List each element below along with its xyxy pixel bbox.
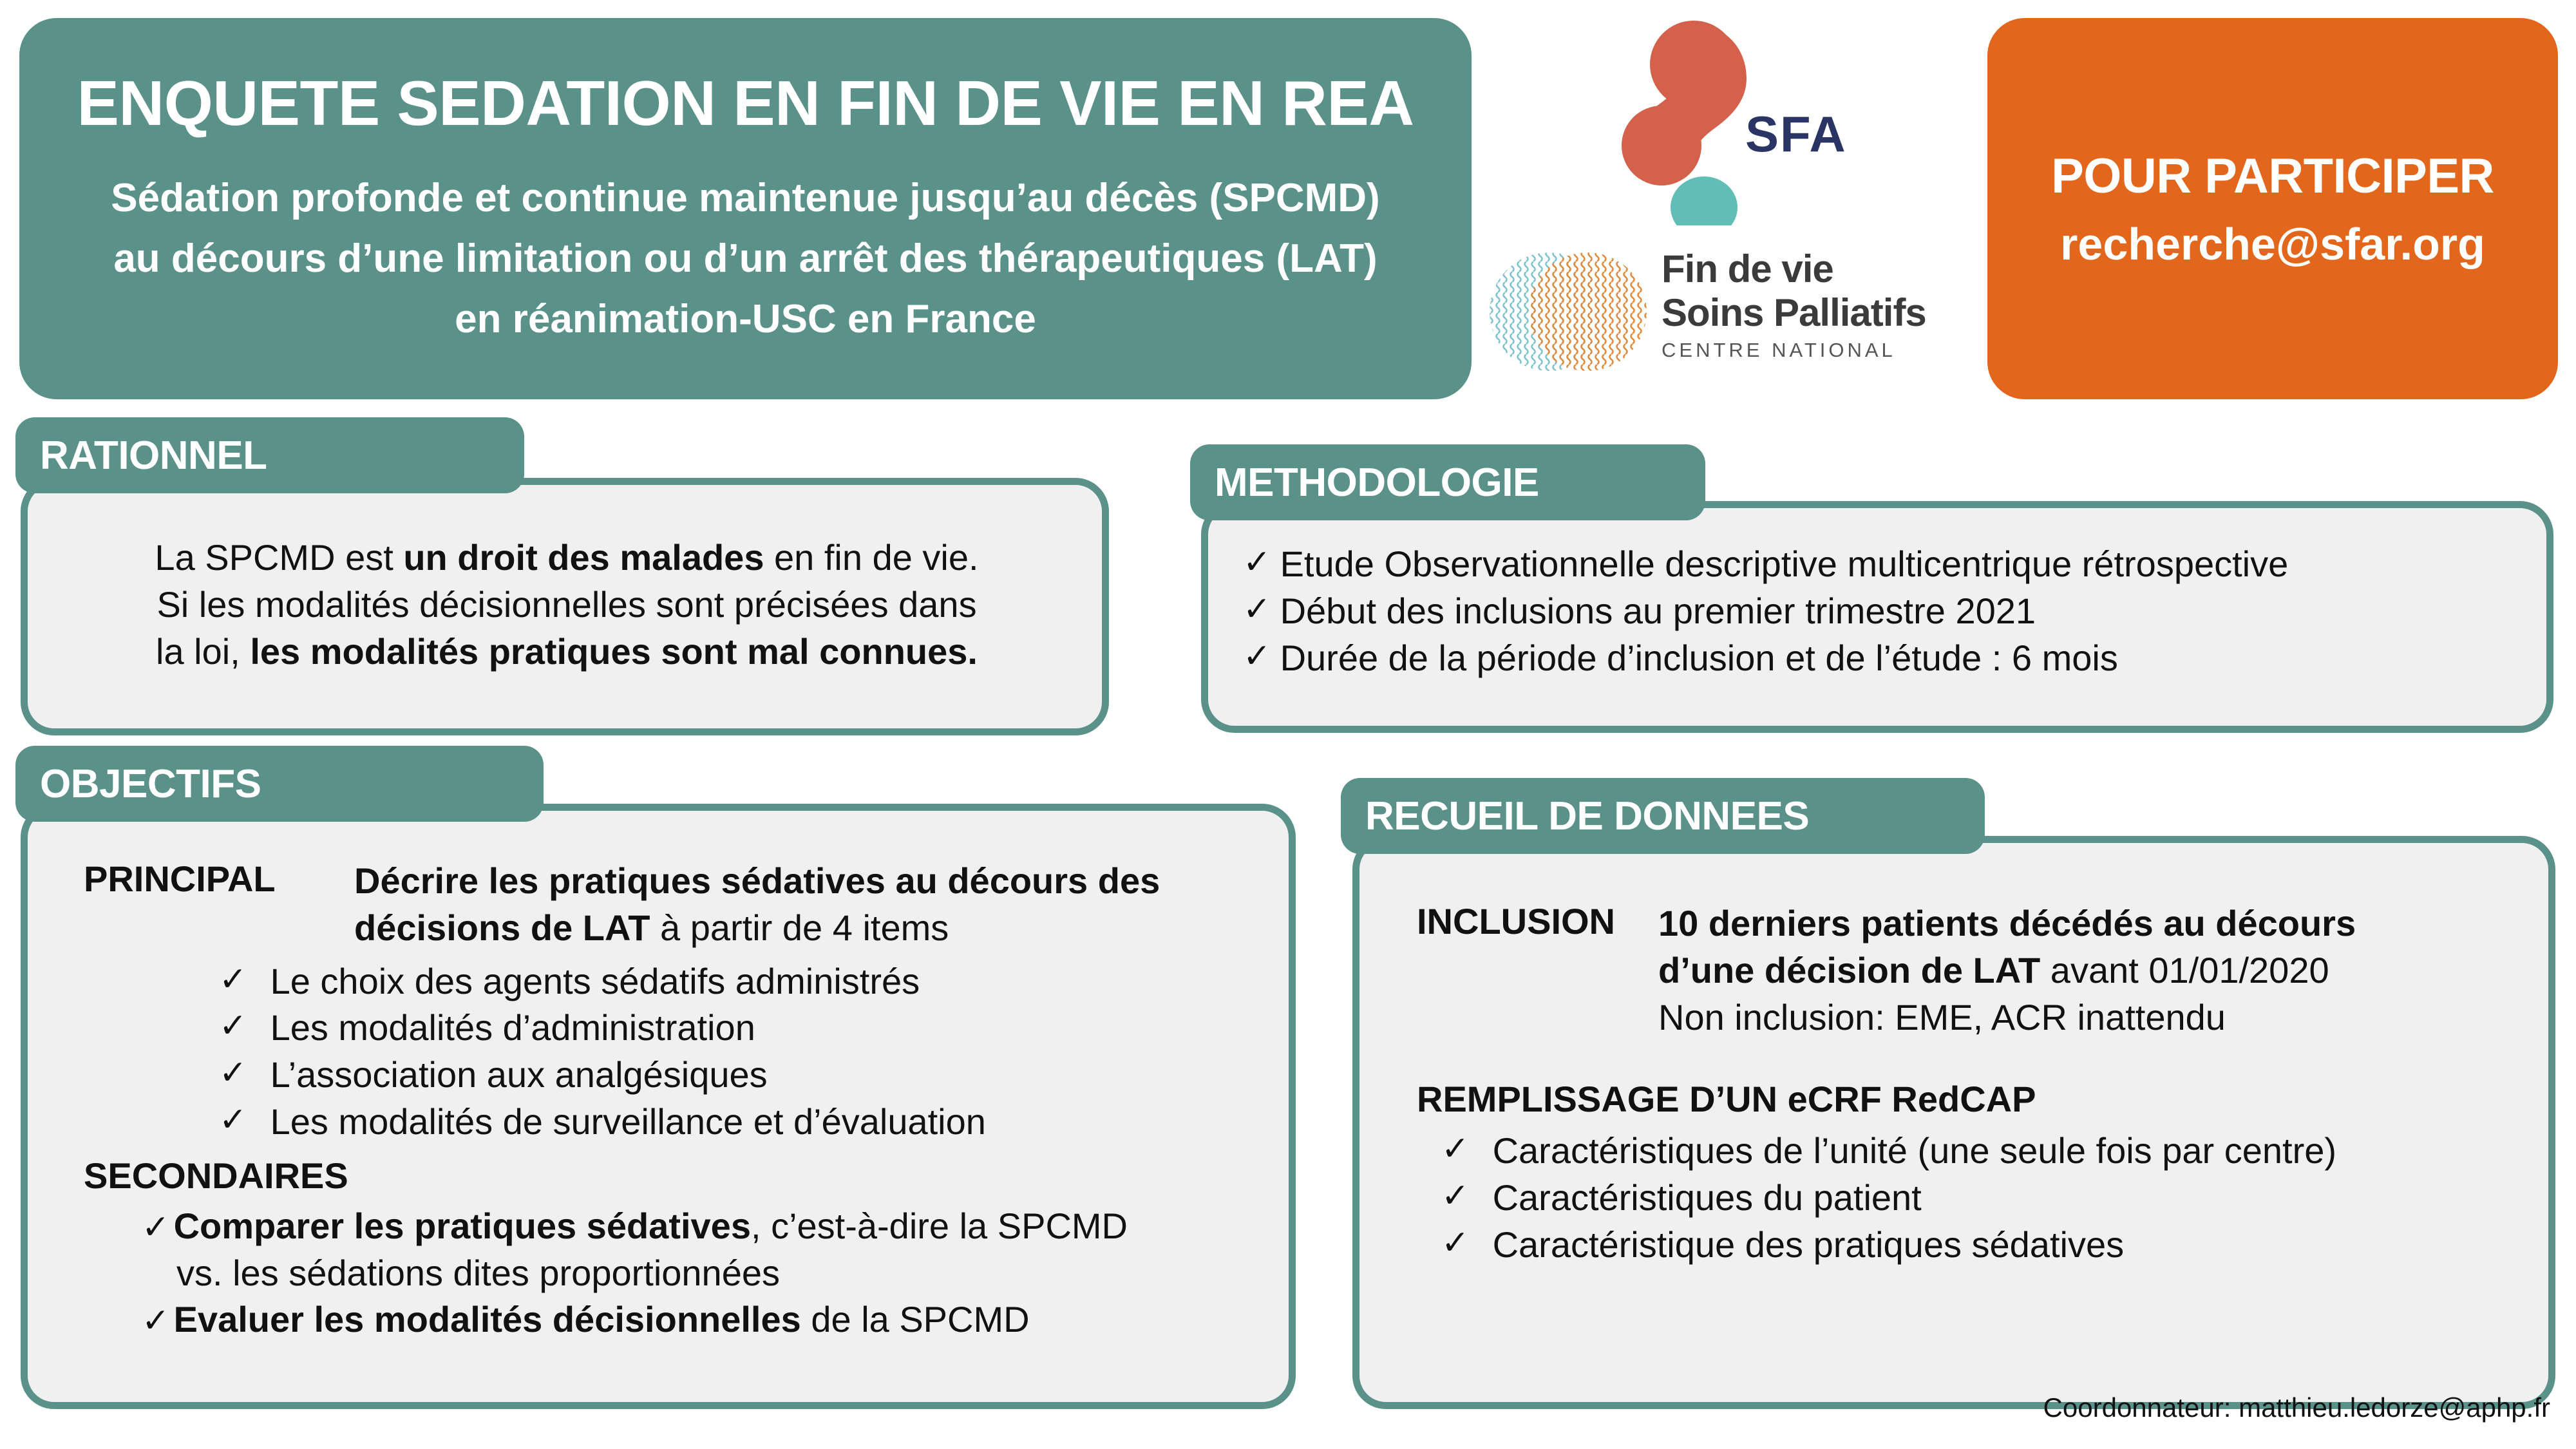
coordinator-contact: Coordonnateur: matthieu.ledorze@aphp.fr xyxy=(2043,1392,2550,1423)
objectifs-principal-list: ✓ Le choix des agents sédatifs administr… xyxy=(219,958,1288,1146)
objectifs-secondaires-label: SECONDAIRES xyxy=(84,1155,1288,1197)
objectifs-secondaire-2-bold: Evaluer les modalités décisionnelles xyxy=(174,1299,801,1340)
list-item: ✓ Caractéristiques du patient xyxy=(1441,1175,2550,1222)
check-icon: ✓ xyxy=(1441,1222,1470,1265)
objectifs-secondaires-list: ✓Comparer les pratiques sédatives, c’est… xyxy=(142,1203,1288,1343)
list-item: ✓Comparer les pratiques sédatives, c’est… xyxy=(142,1203,1288,1297)
methodologie-item-text: Début des inclusions au premier trimestr… xyxy=(1280,588,2036,635)
list-item: ✓ Caractéristique des pratiques sédative… xyxy=(1441,1222,2550,1269)
recueil-inclusion-label: INCLUSION xyxy=(1417,900,1658,942)
header-banner: ENQUETE SEDATION EN FIN DE VIE EN REA Sé… xyxy=(19,18,1472,399)
card-tab-recueil-de-donnees: RECUEIL DE DONNEES xyxy=(1341,778,1985,854)
list-item: ✓ Caractéristiques de l’unité (une seule… xyxy=(1441,1128,2550,1175)
check-icon: ✓ xyxy=(1441,1128,1470,1171)
fin-de-vie-wordmark: Fin de vie Soins Palliatifs CENTRE NATIO… xyxy=(1662,250,1926,360)
recueil-inclusion-bold-2: d’une décision de LAT xyxy=(1658,950,2040,990)
methodologie-item-text: Etude Observationnelle descriptive multi… xyxy=(1280,541,2289,588)
header-subtitle-line-2: au décours d’une limitation ou d’un arrê… xyxy=(113,239,1377,279)
list-item: ✓ Les modalités d’administration xyxy=(219,1005,1288,1052)
sfar-logo: SFAR xyxy=(1578,19,1848,225)
list-item: ✓ Les modalités de surveillance et d’éva… xyxy=(219,1099,1288,1146)
objectifs-principal-label: PRINCIPAL xyxy=(84,858,354,900)
check-icon: ✓ xyxy=(219,1052,247,1095)
objectifs-principal-bold-1: Décrire les pratiques sédatives au décou… xyxy=(354,860,1160,901)
objectifs-principal-bold-2: décisions de LAT xyxy=(354,907,650,948)
cta-title: POUR PARTICIPER xyxy=(2051,148,2494,204)
recueil-inclusion-row: INCLUSION 10 derniers patients décédés a… xyxy=(1417,900,2550,1041)
list-item: ✓Evaluer les modalités décisionnelles de… xyxy=(142,1296,1288,1343)
list-item: ✓ Etude Observationnelle descriptive mul… xyxy=(1243,541,2544,588)
check-icon: ✓ xyxy=(1243,635,1271,679)
fin-de-vie-line-1: Fin de vie xyxy=(1662,250,1926,289)
check-icon: ✓ xyxy=(219,1099,247,1142)
check-icon: ✓ xyxy=(1441,1175,1470,1218)
check-icon: ✓ xyxy=(142,1209,170,1246)
header-subtitle-line-1: Sédation profonde et continue maintenue … xyxy=(111,178,1379,218)
objectifs-secondaire-1-continuation: vs. les sédations dites proportionnées xyxy=(176,1250,1288,1297)
recueil-ecrf-list: ✓ Caractéristiques de l’unité (une seule… xyxy=(1441,1128,2550,1268)
fin-de-vie-logo: Fin de vie Soins Palliatifs CENTRE NATIO… xyxy=(1488,232,1958,393)
recueil-inclusion-text: 10 derniers patients décédés au décours … xyxy=(1658,900,2356,1041)
objectifs-item-text: L’association aux analgésiques xyxy=(270,1052,768,1099)
list-item: ✓ L’association aux analgésiques xyxy=(219,1052,1288,1099)
list-item: ✓ Début des inclusions au premier trimes… xyxy=(1243,588,2544,635)
recueil-inclusion-bold-1: 10 derniers patients décédés au décours xyxy=(1658,903,2356,943)
card-tab-rationnel: RATIONNEL xyxy=(15,417,524,493)
recueil-ecrf-item-text: Caractéristique des pratiques sédatives xyxy=(1493,1222,2125,1269)
card-body-rationnel: La SPCMD est un droit des malades en fin… xyxy=(58,535,1075,675)
cta-email[interactable]: recherche@sfar.org xyxy=(2060,218,2485,270)
objectifs-item-text: Les modalités d’administration xyxy=(270,1005,755,1052)
check-icon: ✓ xyxy=(1243,541,1271,585)
recueil-inclusion-line-3: Non inclusion: EME, ACR inattendu xyxy=(1658,997,2226,1037)
objectifs-secondaire-1-bold: Comparer les pratiques sédatives xyxy=(174,1206,751,1246)
recueil-ecrf-heading: REMPLISSAGE D’UN eCRF RedCAP xyxy=(1417,1078,2550,1120)
recueil-ecrf-item-text: Caractéristiques du patient xyxy=(1493,1175,1922,1222)
check-icon: ✓ xyxy=(219,1005,247,1048)
objectifs-secondaire-2-plain: de la SPCMD xyxy=(801,1299,1030,1340)
card-tab-methodologie: METHODOLOGIE xyxy=(1190,444,1705,520)
objectifs-secondaire-1-plain: , c’est-à-dire la SPCMD xyxy=(751,1206,1128,1246)
list-item: ✓ Le choix des agents sédatifs administr… xyxy=(219,958,1288,1005)
rationnel-line-2-plain-a: Si les modalités décisionnelles sont pré… xyxy=(156,584,976,625)
recueil-inclusion-plain-2: avant 01/01/2020 xyxy=(2040,950,2329,990)
methodologie-list: ✓ Etude Observationnelle descriptive mul… xyxy=(1243,541,2544,681)
fin-de-vie-line-2: Soins Palliatifs xyxy=(1662,294,1926,332)
page-title: ENQUETE SEDATION EN FIN DE VIE EN REA xyxy=(77,70,1414,137)
svg-text:SFAR: SFAR xyxy=(1745,106,1848,162)
list-item: ✓ Durée de la période d’inclusion et de … xyxy=(1243,635,2544,682)
rationnel-line-3: la loi, les modalités pratiques sont mal… xyxy=(58,629,1075,676)
rationnel-line-1-plain-b: en fin de vie. xyxy=(764,537,978,578)
card-body-methodologie: ✓ Etude Observationnelle descriptive mul… xyxy=(1243,541,2544,681)
card-tab-objectifs: OBJECTIFS xyxy=(15,746,544,822)
logo-stack: SFAR Fin de vie Soins Palliatifs CENTRE … xyxy=(1481,13,1971,399)
fin-de-vie-wave-mark xyxy=(1488,241,1649,383)
header-subtitle-line-3: en réanimation-USC en France xyxy=(455,299,1036,339)
rationnel-line-1: La SPCMD est un droit des malades en fin… xyxy=(58,535,1075,582)
pour-participer-box: POUR PARTICIPER recherche@sfar.org xyxy=(1987,18,2558,399)
card-body-recueil-de-donnees: INCLUSION 10 derniers patients décédés a… xyxy=(1417,900,2550,1269)
rationnel-line-1-bold: un droit des malades xyxy=(403,537,764,578)
objectifs-principal-text: Décrire les pratiques sédatives au décou… xyxy=(354,858,1160,952)
methodologie-item-text: Durée de la période d’inclusion et de l’… xyxy=(1280,635,2118,682)
fin-de-vie-line-3: CENTRE NATIONAL xyxy=(1662,340,1926,360)
card-body-objectifs: PRINCIPAL Décrire les pratiques sédative… xyxy=(84,858,1288,1343)
rationnel-line-1-plain-a: La SPCMD est xyxy=(155,537,403,578)
check-icon: ✓ xyxy=(1243,588,1271,632)
objectifs-principal-row: PRINCIPAL Décrire les pratiques sédative… xyxy=(84,858,1288,952)
objectifs-item-text: Le choix des agents sédatifs administrés xyxy=(270,958,920,1005)
check-icon: ✓ xyxy=(142,1302,170,1340)
rationnel-line-3-plain-a: la loi, xyxy=(156,631,250,672)
rationnel-line-3-bold: les modalités pratiques sont mal connues… xyxy=(250,631,978,672)
rationnel-line-2: Si les modalités décisionnelles sont pré… xyxy=(58,582,1075,629)
recueil-ecrf-item-text: Caractéristiques de l’unité (une seule f… xyxy=(1493,1128,2336,1175)
sfar-logo-mark: SFAR xyxy=(1578,19,1848,225)
objectifs-item-text: Les modalités de surveillance et d’évalu… xyxy=(270,1099,986,1146)
check-icon: ✓ xyxy=(219,958,247,1002)
objectifs-principal-plain-2: à partir de 4 items xyxy=(650,907,949,948)
